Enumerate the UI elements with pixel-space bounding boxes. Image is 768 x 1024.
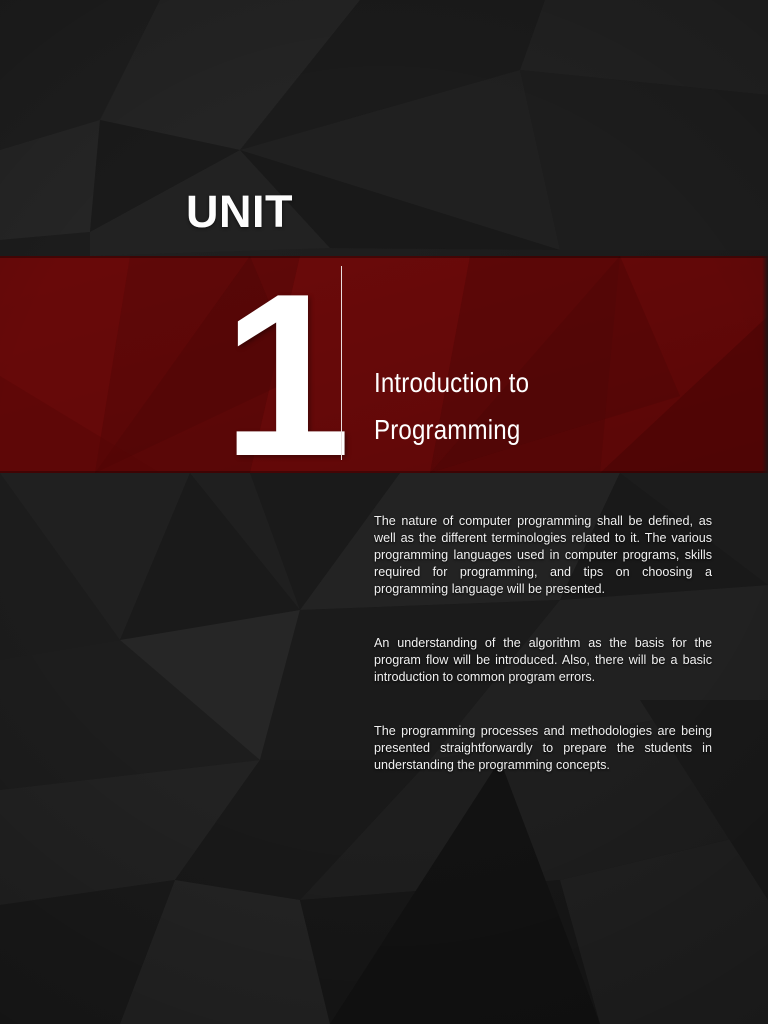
unit-description: The nature of computer programming shall… (374, 513, 712, 774)
banner-top-edge (0, 256, 768, 258)
banner-bottom-edge (0, 471, 768, 473)
low-poly-background (0, 0, 768, 1024)
unit-cover-page: UNIT 1 (0, 0, 768, 1024)
unit-number: 1 (222, 268, 327, 483)
banner-divider-rule (341, 266, 342, 460)
description-paragraph: An understanding of the algorithm as the… (374, 635, 712, 686)
unit-label: UNIT (186, 189, 293, 234)
banner-right-fade (762, 256, 768, 473)
description-paragraph: The nature of computer programming shall… (374, 513, 712, 598)
description-paragraph: The programming processes and methodolog… (374, 723, 712, 774)
unit-title-line-1: Introduction to (374, 359, 658, 406)
unit-title-line-2: Programming (374, 406, 658, 453)
unit-title: Introduction to Programming (374, 359, 704, 453)
